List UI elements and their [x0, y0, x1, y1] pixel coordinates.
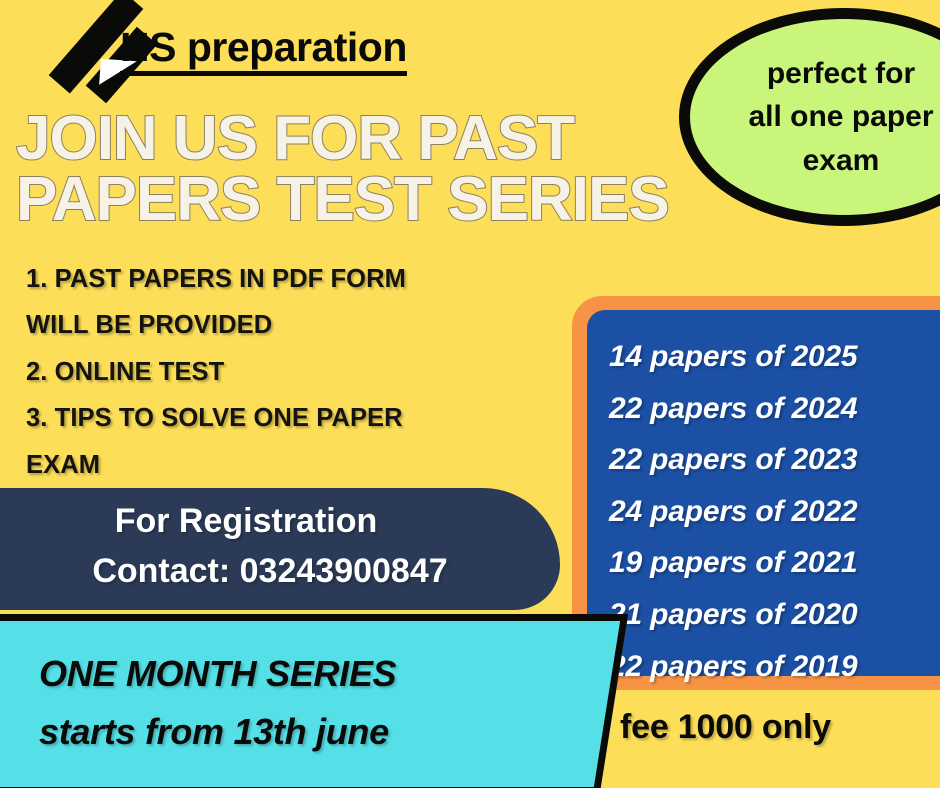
list-item: 2. ONLINE TEST	[26, 349, 546, 395]
registration-heading: For Registration	[0, 497, 560, 547]
badge-text: perfect for all one paper exam	[716, 52, 940, 183]
list-item: 22 papers of 2023	[609, 434, 940, 486]
badge-line-3: exam	[716, 139, 940, 183]
papers-panel: 14 papers of 2025 22 papers of 2024 22 p…	[572, 296, 940, 690]
series-band-content: ONE MONTH SERIES starts from 13th june	[0, 621, 609, 762]
fee-note: fee 1000 only	[620, 708, 831, 747]
series-band: ONE MONTH SERIES starts from 13th june	[0, 614, 628, 788]
page-title: JOIN US FOR PAST PAPERS TEST SERIES	[16, 108, 706, 231]
list-item: 3. TIPS TO SOLVE ONE PAPER	[26, 395, 546, 441]
list-item: 24 papers of 2022	[609, 486, 940, 538]
list-item: 22 papers of 2019	[609, 641, 940, 693]
registration-banner: For Registration Contact: 03243900847	[0, 488, 560, 610]
list-item: EXAM	[26, 442, 546, 488]
list-item: 22 papers of 2024	[609, 383, 940, 435]
brand-name: HS preparation	[120, 26, 407, 76]
headline-line-2: PAPERS TEST SERIES	[16, 169, 706, 230]
list-item: WILL BE PROVIDED	[26, 302, 546, 348]
list-item: 14 papers of 2025	[609, 331, 940, 383]
list-item: 21 papers of 2020	[609, 589, 940, 641]
status-badge: perfect for all one paper exam	[679, 8, 940, 226]
list-item: 19 papers of 2021	[609, 537, 940, 589]
badge-line-2: all one paper	[716, 95, 940, 139]
series-title: ONE MONTH SERIES	[39, 645, 609, 703]
feature-list: 1. PAST PAPERS IN PDF FORM WILL BE PROVI…	[26, 256, 546, 488]
papers-list: 14 papers of 2025 22 papers of 2024 22 p…	[587, 310, 940, 676]
series-start-date: starts from 13th june	[39, 703, 609, 761]
badge-line-1: perfect for	[716, 52, 940, 96]
headline-line-1: JOIN US FOR PAST	[16, 108, 706, 169]
contact-phone[interactable]: Contact: 03243900847	[0, 547, 560, 597]
poster-canvas: HS preparation JOIN US FOR PAST PAPERS T…	[0, 0, 940, 788]
list-item: 1. PAST PAPERS IN PDF FORM	[26, 256, 546, 302]
